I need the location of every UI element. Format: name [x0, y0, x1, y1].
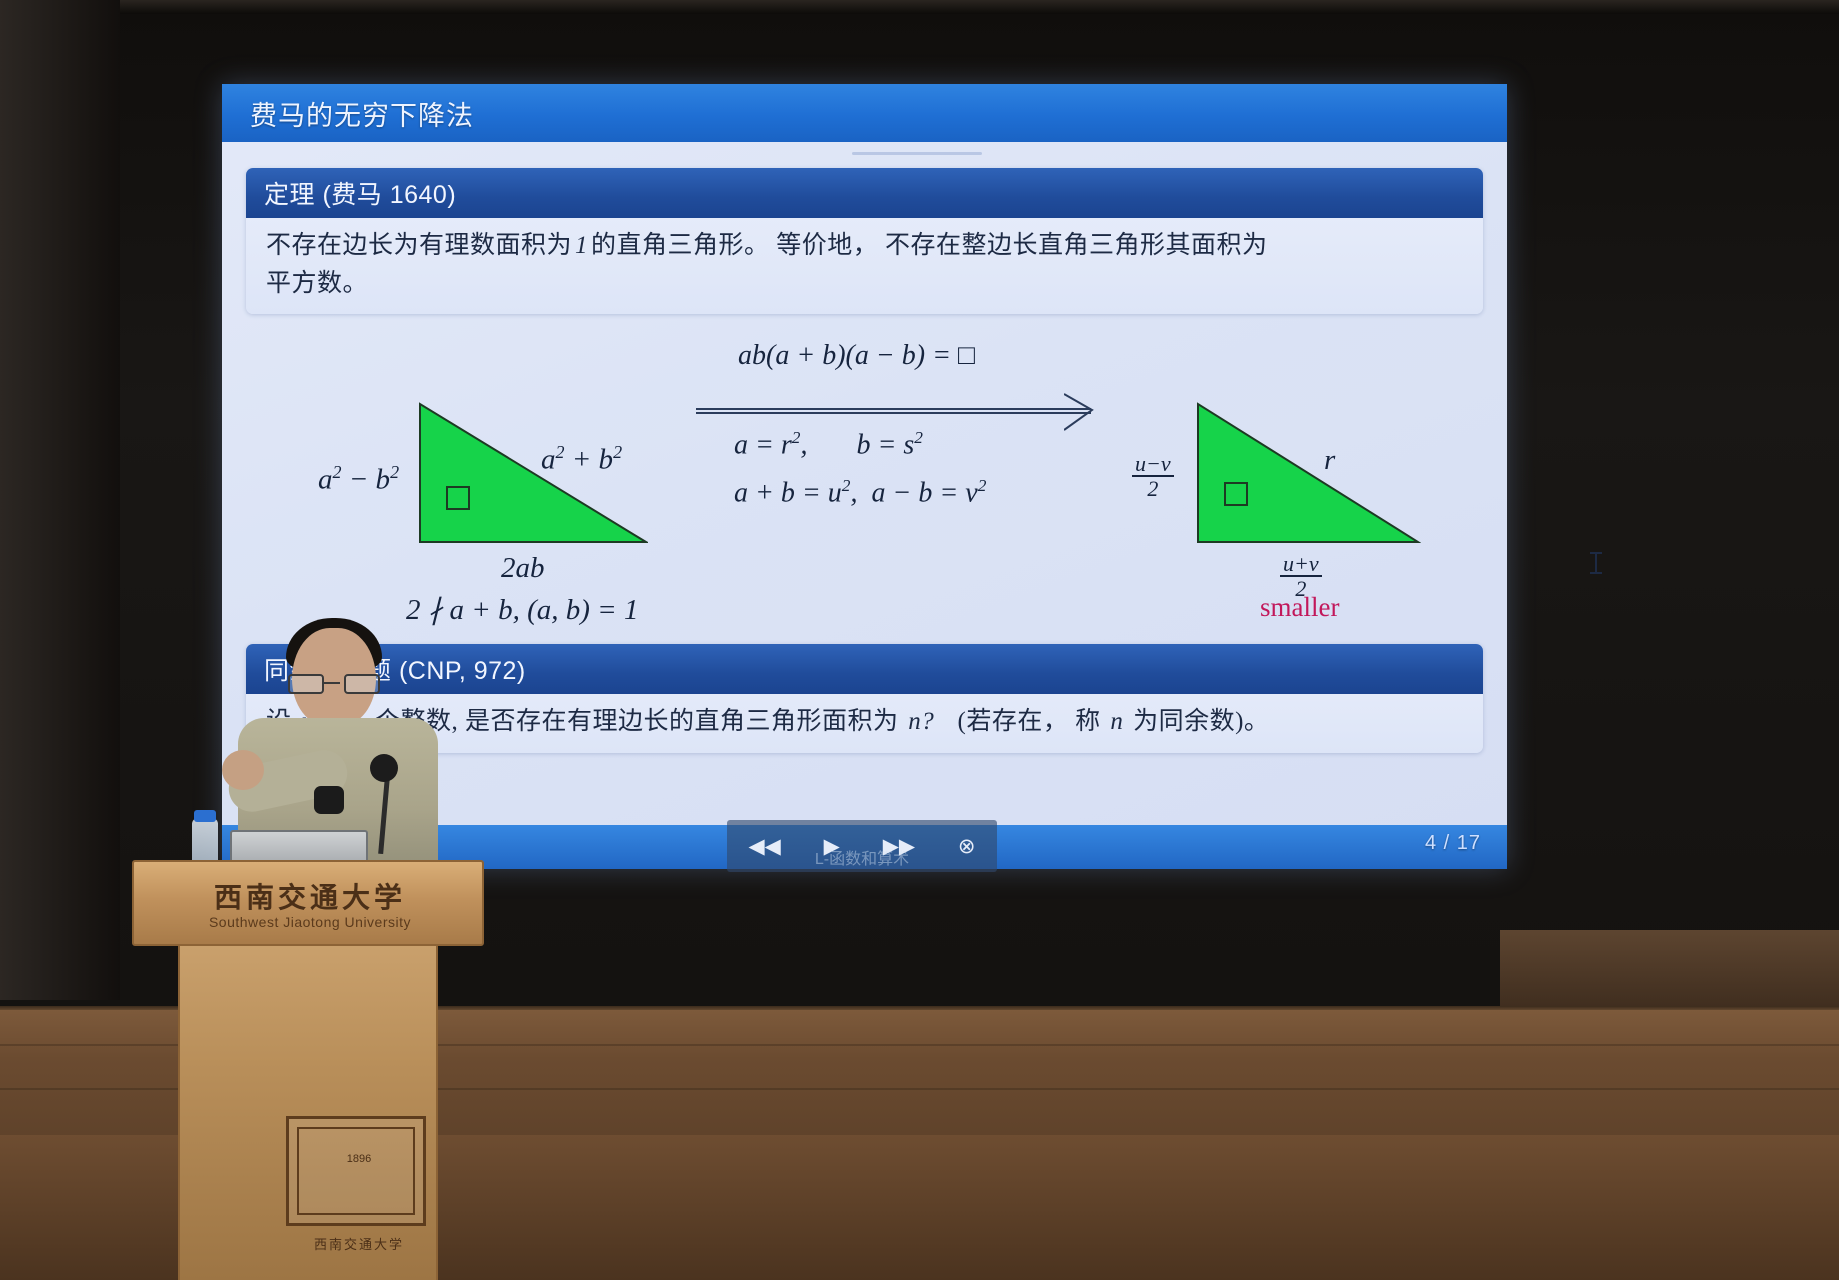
glasses-icon [288, 674, 380, 694]
university-crest: 1896 西南交通大学 [286, 1116, 426, 1226]
theorem-title: 定理 (费马 1640) [246, 168, 1483, 218]
right-right-angle-marker [1224, 482, 1248, 506]
theorem-line1-part-a: 不存在边长为有理数面积为 [266, 232, 572, 259]
lectern-podium: 西南交通大学 Southwest Jiaotong University 189… [132, 860, 484, 1280]
microphone-icon [370, 754, 398, 782]
theorem-line1-emph: 1 [572, 232, 591, 259]
problem-text-d: 为同余数)。 [1133, 708, 1269, 735]
text-cursor [1595, 552, 1597, 574]
crest-label: 西南交通大学 [289, 1234, 429, 1253]
smaller-caption: smaller [1260, 592, 1339, 623]
arrow-above-label: ab(a + b)(a − b) = □ [738, 340, 975, 372]
water-bottle-cap [194, 810, 216, 822]
left-right-angle-marker [446, 486, 470, 510]
podium-top-panel: 西南交通大学 Southwest Jiaotong University [132, 860, 484, 946]
left-base-label: 2ab [501, 552, 545, 585]
video-title-overlay: L-函数和算术 [727, 845, 997, 869]
right-leg-numerator: u−v [1132, 452, 1174, 477]
speaker-person [222, 618, 442, 870]
left-vertical-leg-label: a2 − b2 [318, 462, 399, 497]
ceiling-strip [0, 0, 1839, 14]
problem-var-n-3: n [1107, 708, 1126, 735]
problem-var-n-2: n? [905, 708, 937, 735]
arrow-below-line1: a = r2, b = s2 [734, 428, 923, 461]
podium-body: 1896 西南交通大学 [178, 946, 438, 1280]
right-vertical-leg-label: u−v2 [1132, 452, 1174, 500]
theorem-body: 不存在边长为有理数面积为1的直角三角形。 等价地， 不存在整边长直角三角形其面积… [246, 218, 1483, 314]
transformation-arrow-group: ab(a + b)(a − b) = □ a = r2, b = s2 a + … [696, 324, 1116, 494]
speaker-hand [222, 750, 264, 790]
lecture-hall-photo: 费马的无穷下降法 定理 (费马 1640) 不存在边长为有理数面积为1的直角三角… [0, 0, 1839, 1280]
right-leg-denominator: 2 [1132, 477, 1174, 500]
descent-diagram: a2 − b2 a2 + b2 2ab 2 ∤ a + b, (a, b) = … [246, 304, 1483, 634]
problem-text-c: (若存在， 称 [958, 708, 1101, 735]
slide-header-bar: 费马的无穷下降法 [222, 84, 1507, 142]
page-indicator: 4 / 17 [1425, 832, 1481, 855]
header-divider [852, 152, 982, 155]
crest-year: 1896 [289, 1153, 429, 1165]
university-name-cn: 西南交通大学 [134, 876, 486, 916]
right-base-numerator: u+v [1280, 552, 1322, 577]
right-triangle-shape [1196, 402, 1421, 544]
theorem-line1-part-b: 的直角三角形。 等价地， 不存在整边长直角三角形其面积为 [591, 232, 1268, 259]
left-hypotenuse-label: a2 + b2 [541, 442, 622, 477]
theorem-line2: 平方数。 [266, 270, 368, 297]
wristwatch [314, 786, 344, 814]
wall-left-column [0, 0, 120, 1000]
university-name-en: Southwest Jiaotong University [134, 914, 486, 930]
slide-title: 费马的无穷下降法 [250, 94, 474, 133]
theorem-block: 定理 (费马 1640) 不存在边长为有理数面积为1的直角三角形。 等价地， 不… [246, 168, 1483, 314]
arrow-head-icon [1064, 392, 1106, 432]
arrow-below-line2: a + b = u2, a − b = v2 [734, 476, 986, 509]
right-hypotenuse-label: r [1324, 444, 1335, 477]
double-arrow-line [696, 408, 1091, 414]
right-triangle-group [1196, 402, 1421, 549]
